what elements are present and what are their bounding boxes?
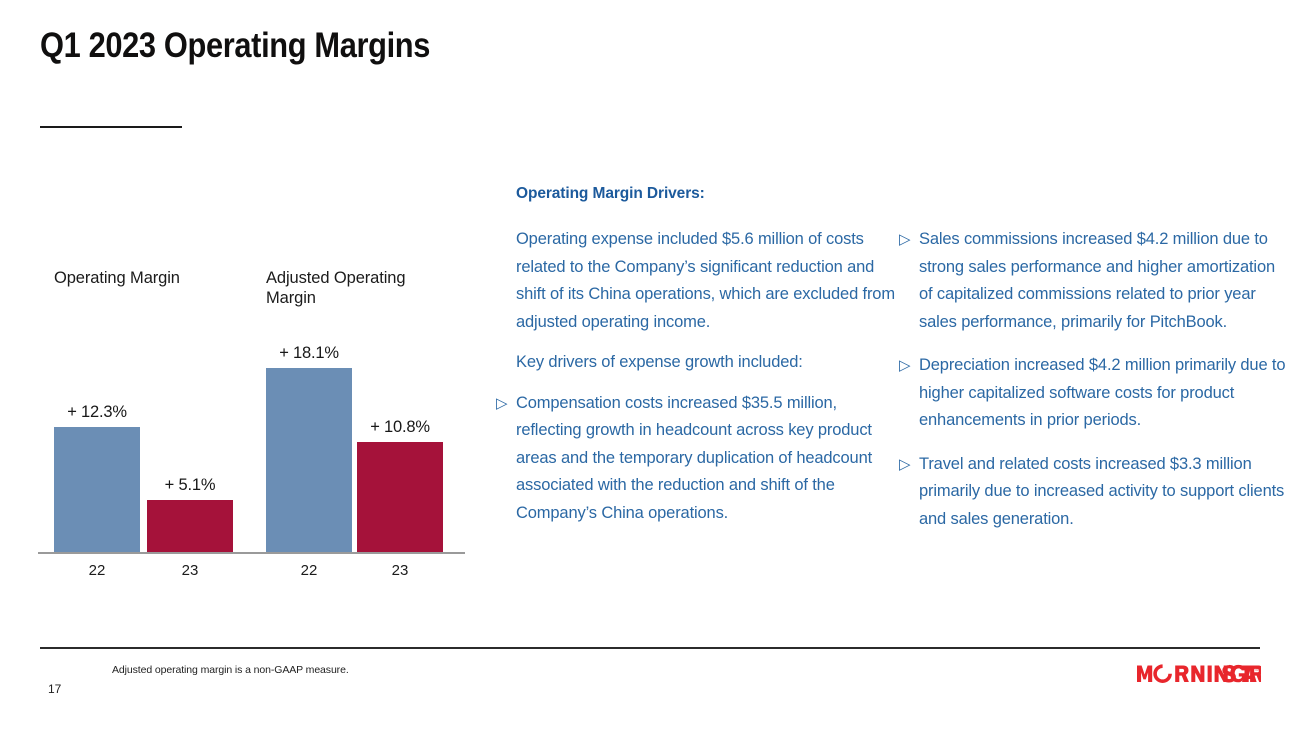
registered-trademark-icon: ® [1255, 665, 1261, 673]
chart-bar: + 12.3% [54, 427, 140, 552]
triangle-bullet-icon: ▷ [496, 390, 507, 418]
driver-text: Compensation costs increased $35.5 milli… [516, 394, 872, 522]
chart-bar: + 18.1% [266, 368, 352, 552]
chart-x-tick-label: 23 [182, 562, 199, 579]
drivers-left-column: Operating expense included $5.6 million … [496, 226, 896, 540]
chart-bar-value-label: + 10.8% [370, 418, 430, 437]
driver-bullet-item: ▷Sales commissions increased $4.2 millio… [899, 226, 1291, 336]
operating-margins-bar-chart: Operating Margin Adjusted Operating Marg… [0, 0, 500, 600]
drivers-heading: Operating Margin Drivers: [516, 185, 705, 203]
footer-divider [40, 647, 1260, 649]
driver-paragraph: Operating expense included $5.6 million … [496, 226, 896, 336]
chart-group-label-adjusted-operating-margin: Adjusted Operating Margin [266, 268, 416, 308]
chart-bar-fill [147, 500, 233, 552]
driver-text: Travel and related costs increased $3.3 … [919, 455, 1284, 528]
triangle-bullet-icon: ▷ [899, 352, 910, 380]
chart-x-tick-label: 23 [392, 562, 409, 579]
chart-group-label-operating-margin: Operating Margin [54, 268, 244, 288]
driver-text: Sales commissions increased $4.2 million… [919, 230, 1275, 331]
morningstar-logo: ® [1137, 663, 1261, 687]
chart-x-tick-label: 22 [89, 562, 106, 579]
chart-bar: + 10.8% [357, 442, 443, 552]
driver-paragraph: Key drivers of expense growth included: [496, 349, 896, 377]
chart-baseline-axis [38, 552, 465, 554]
triangle-bullet-icon: ▷ [899, 451, 910, 479]
driver-text: Key drivers of expense growth included: [516, 353, 803, 371]
chart-bar: + 5.1% [147, 500, 233, 552]
drivers-right-column: ▷Sales commissions increased $4.2 millio… [899, 226, 1291, 549]
driver-bullet-item: ▷Depreciation increased $4.2 million pri… [899, 352, 1291, 435]
chart-bar-fill [54, 427, 140, 552]
chart-bar-value-label: + 12.3% [67, 403, 127, 422]
driver-bullet-item: ▷Compensation costs increased $35.5 mill… [496, 390, 896, 528]
chart-bar-value-label: + 5.1% [165, 476, 216, 495]
footnote: Adjusted operating margin is a non-GAAP … [112, 664, 349, 676]
chart-bar-value-label: + 18.1% [279, 344, 339, 363]
chart-x-tick-label: 22 [301, 562, 318, 579]
driver-text: Operating expense included $5.6 million … [516, 230, 895, 331]
chart-bar-fill [357, 442, 443, 552]
driver-text: Depreciation increased $4.2 million prim… [919, 356, 1285, 429]
triangle-bullet-icon: ▷ [899, 226, 910, 254]
driver-bullet-item: ▷Travel and related costs increased $3.3… [899, 451, 1291, 534]
chart-bar-fill [266, 368, 352, 552]
page-number: 17 [48, 682, 61, 696]
